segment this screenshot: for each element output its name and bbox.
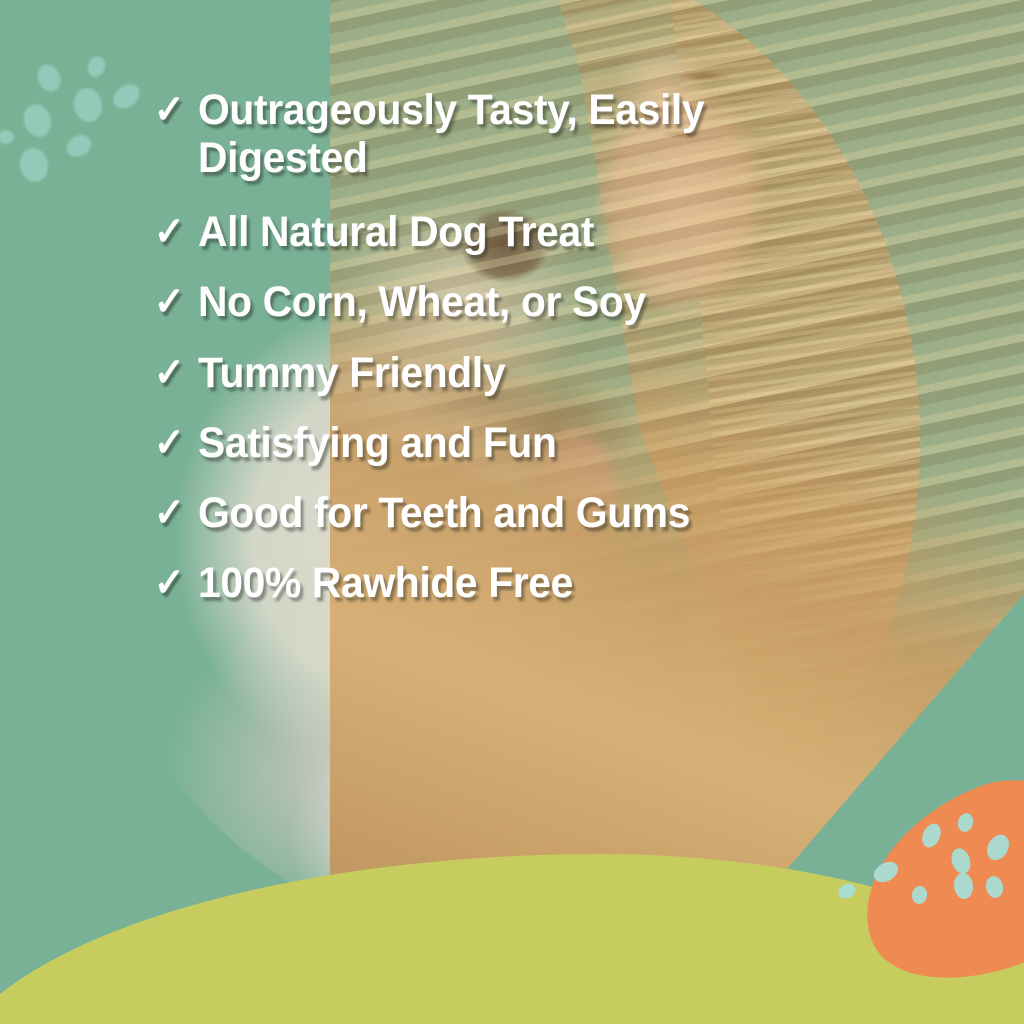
list-item: ✓ Outrageously Tasty, Easily Digested (152, 86, 912, 182)
list-item: ✓ Good for Teeth and Gums (152, 489, 912, 537)
check-icon: ✓ (154, 353, 196, 393)
list-item: ✓ No Corn, Wheat, or Soy (152, 278, 912, 326)
list-item-label: Outrageously Tasty, Easily Digested (198, 86, 876, 182)
list-item-label: Tummy Friendly (198, 349, 876, 397)
check-icon: ✓ (154, 493, 196, 533)
benefits-checklist: ✓ Outrageously Tasty, Easily Digested ✓ … (152, 86, 912, 625)
list-item-label: 100% Rawhide Free (198, 559, 876, 607)
check-icon: ✓ (154, 423, 196, 463)
list-item: ✓ All Natural Dog Treat (152, 208, 912, 256)
list-item-label: Satisfying and Fun (198, 419, 876, 467)
check-icon: ✓ (154, 90, 196, 130)
check-icon: ✓ (154, 212, 196, 252)
check-icon: ✓ (154, 282, 196, 322)
list-item-label: Good for Teeth and Gums (198, 489, 876, 537)
list-item-label: All Natural Dog Treat (198, 208, 876, 256)
list-item-label: No Corn, Wheat, or Soy (198, 278, 876, 326)
list-item: ✓ 100% Rawhide Free (152, 559, 912, 607)
list-item: ✓ Satisfying and Fun (152, 419, 912, 467)
list-item: ✓ Tummy Friendly (152, 349, 912, 397)
check-icon: ✓ (154, 563, 196, 603)
promo-graphic: ✓ Outrageously Tasty, Easily Digested ✓ … (0, 0, 1024, 1024)
